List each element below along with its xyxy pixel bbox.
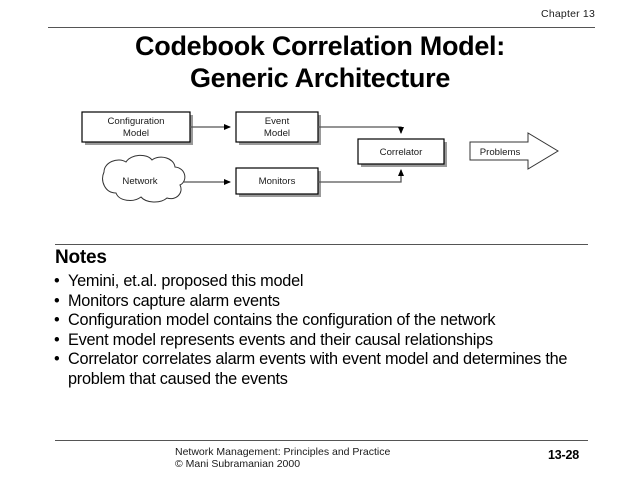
list-item-text: Monitors capture alarm events bbox=[68, 292, 280, 310]
diagram-label-monitors: Monitors bbox=[259, 176, 296, 187]
diagram-label-configuration-model-line2: Model bbox=[123, 128, 149, 139]
footer-divider bbox=[55, 440, 588, 441]
bullet-icon: • bbox=[54, 350, 59, 370]
notes-list: • Yemini, et.al. proposed this model • M… bbox=[52, 272, 614, 390]
page-title-line-1: Codebook Correlation Model: bbox=[30, 31, 610, 63]
list-item: • Configuration model contains the confi… bbox=[52, 311, 614, 331]
list-item-text: Event model represents events and their … bbox=[68, 331, 493, 349]
header-divider bbox=[48, 27, 595, 28]
list-item-text: Correlator correlates alarm events with … bbox=[68, 350, 567, 388]
diagram-label-event-model-line2: Model bbox=[264, 128, 290, 139]
bullet-icon: • bbox=[54, 272, 59, 292]
diagram-node-configuration-model: Configuration Model bbox=[82, 112, 190, 142]
list-item: • Yemini, et.al. proposed this model bbox=[52, 272, 614, 292]
page-number: 13-28 bbox=[548, 448, 579, 462]
list-item: • Monitors capture alarm events bbox=[52, 292, 614, 312]
diagram-node-correlator: Correlator bbox=[358, 139, 444, 164]
page-title-line-2: Generic Architecture bbox=[30, 63, 610, 95]
diagram-label-network: Network bbox=[122, 176, 157, 187]
diagram-node-monitors: Monitors bbox=[236, 168, 318, 194]
list-item-text: Yemini, et.al. proposed this model bbox=[68, 272, 303, 290]
bullet-icon: • bbox=[54, 331, 59, 351]
bullet-icon: • bbox=[54, 292, 59, 312]
diagram-label-event-model-line1: Event bbox=[265, 116, 290, 127]
list-item-text: Configuration model contains the configu… bbox=[68, 311, 495, 329]
notes-heading: Notes bbox=[55, 247, 107, 269]
list-item: • Correlator correlates alarm events wit… bbox=[52, 350, 614, 389]
footer-citation: Network Management: Principles and Pract… bbox=[175, 447, 390, 470]
diagram-label-problems: Problems bbox=[480, 147, 521, 158]
diagram-label-correlator: Correlator bbox=[380, 147, 423, 158]
chapter-label: Chapter 13 bbox=[541, 8, 595, 20]
notes-divider bbox=[55, 244, 588, 245]
footer-copyright: © Mani Subramanian 2000 bbox=[175, 459, 390, 471]
bullet-icon: • bbox=[54, 311, 59, 331]
connector-monitors-to-correlator bbox=[318, 170, 401, 182]
page-title: Codebook Correlation Model: Generic Arch… bbox=[30, 31, 610, 95]
connector-event-to-correlator bbox=[318, 127, 401, 133]
list-item: • Event model represents events and thei… bbox=[52, 331, 614, 351]
footer-title: Network Management: Principles and Pract… bbox=[175, 447, 390, 459]
diagram-node-problems-arrow: Problems bbox=[470, 133, 558, 169]
diagram-node-event-model: Event Model bbox=[236, 112, 318, 142]
diagram-label-configuration-model-line1: Configuration bbox=[107, 116, 164, 127]
diagram-node-network-cloud: Network bbox=[103, 155, 185, 202]
